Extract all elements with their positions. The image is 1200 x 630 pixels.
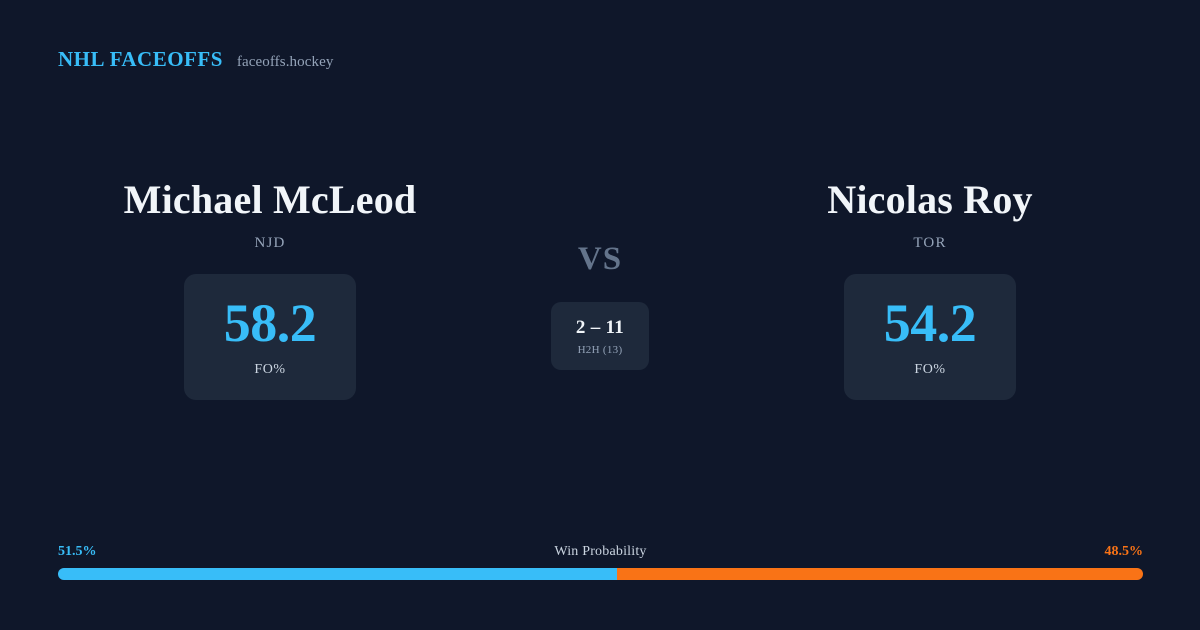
win-probability-bar: [58, 568, 1143, 580]
player-right-name: Nicolas Roy: [827, 175, 1033, 225]
player-right-faceoff-pct: 54.2: [884, 296, 977, 350]
player-left-stat-label: FO%: [254, 362, 285, 378]
win-probability-section: 51.5% Win Probability 48.5%: [58, 544, 1143, 580]
site-header: NHL FACEOFFS faceoffs.hockey: [58, 47, 333, 72]
win-probability-right-pct: 48.5%: [1104, 544, 1143, 560]
win-probability-left-pct: 51.5%: [58, 544, 97, 560]
player-left: Michael McLeod NJD 58.2 FO%: [40, 175, 500, 400]
win-probability-title: Win Probability: [554, 544, 646, 560]
player-right-team: TOR: [913, 235, 946, 252]
player-left-name: Michael McLeod: [124, 175, 417, 225]
site-domain-text: faceoffs.hockey: [237, 54, 334, 71]
matchup-row: Michael McLeod NJD 58.2 FO% VS 2 – 11 H2…: [0, 175, 1200, 400]
head-to-head-card: 2 – 11 H2H (13): [551, 302, 649, 370]
win-probability-bar-right-fill: [617, 568, 1143, 580]
player-left-stat-card: 58.2 FO%: [184, 274, 356, 400]
faceoff-matchup-card: NHL FACEOFFS faceoffs.hockey Michael McL…: [0, 0, 1200, 630]
brand-logo-text: NHL FACEOFFS: [58, 47, 223, 72]
player-right: Nicolas Roy TOR 54.2 FO%: [700, 175, 1160, 400]
win-probability-labels: 51.5% Win Probability 48.5%: [58, 544, 1143, 560]
player-left-faceoff-pct: 58.2: [224, 296, 317, 350]
player-right-stat-card: 54.2 FO%: [844, 274, 1016, 400]
player-right-stat-label: FO%: [914, 362, 945, 378]
player-left-team: NJD: [254, 235, 285, 252]
versus-label: VS: [578, 241, 622, 278]
head-to-head-record: 2 – 11: [576, 317, 624, 339]
win-probability-bar-left-fill: [58, 568, 617, 580]
versus-block: VS 2 – 11 H2H (13): [500, 175, 700, 370]
head-to-head-label: H2H (13): [578, 344, 623, 356]
